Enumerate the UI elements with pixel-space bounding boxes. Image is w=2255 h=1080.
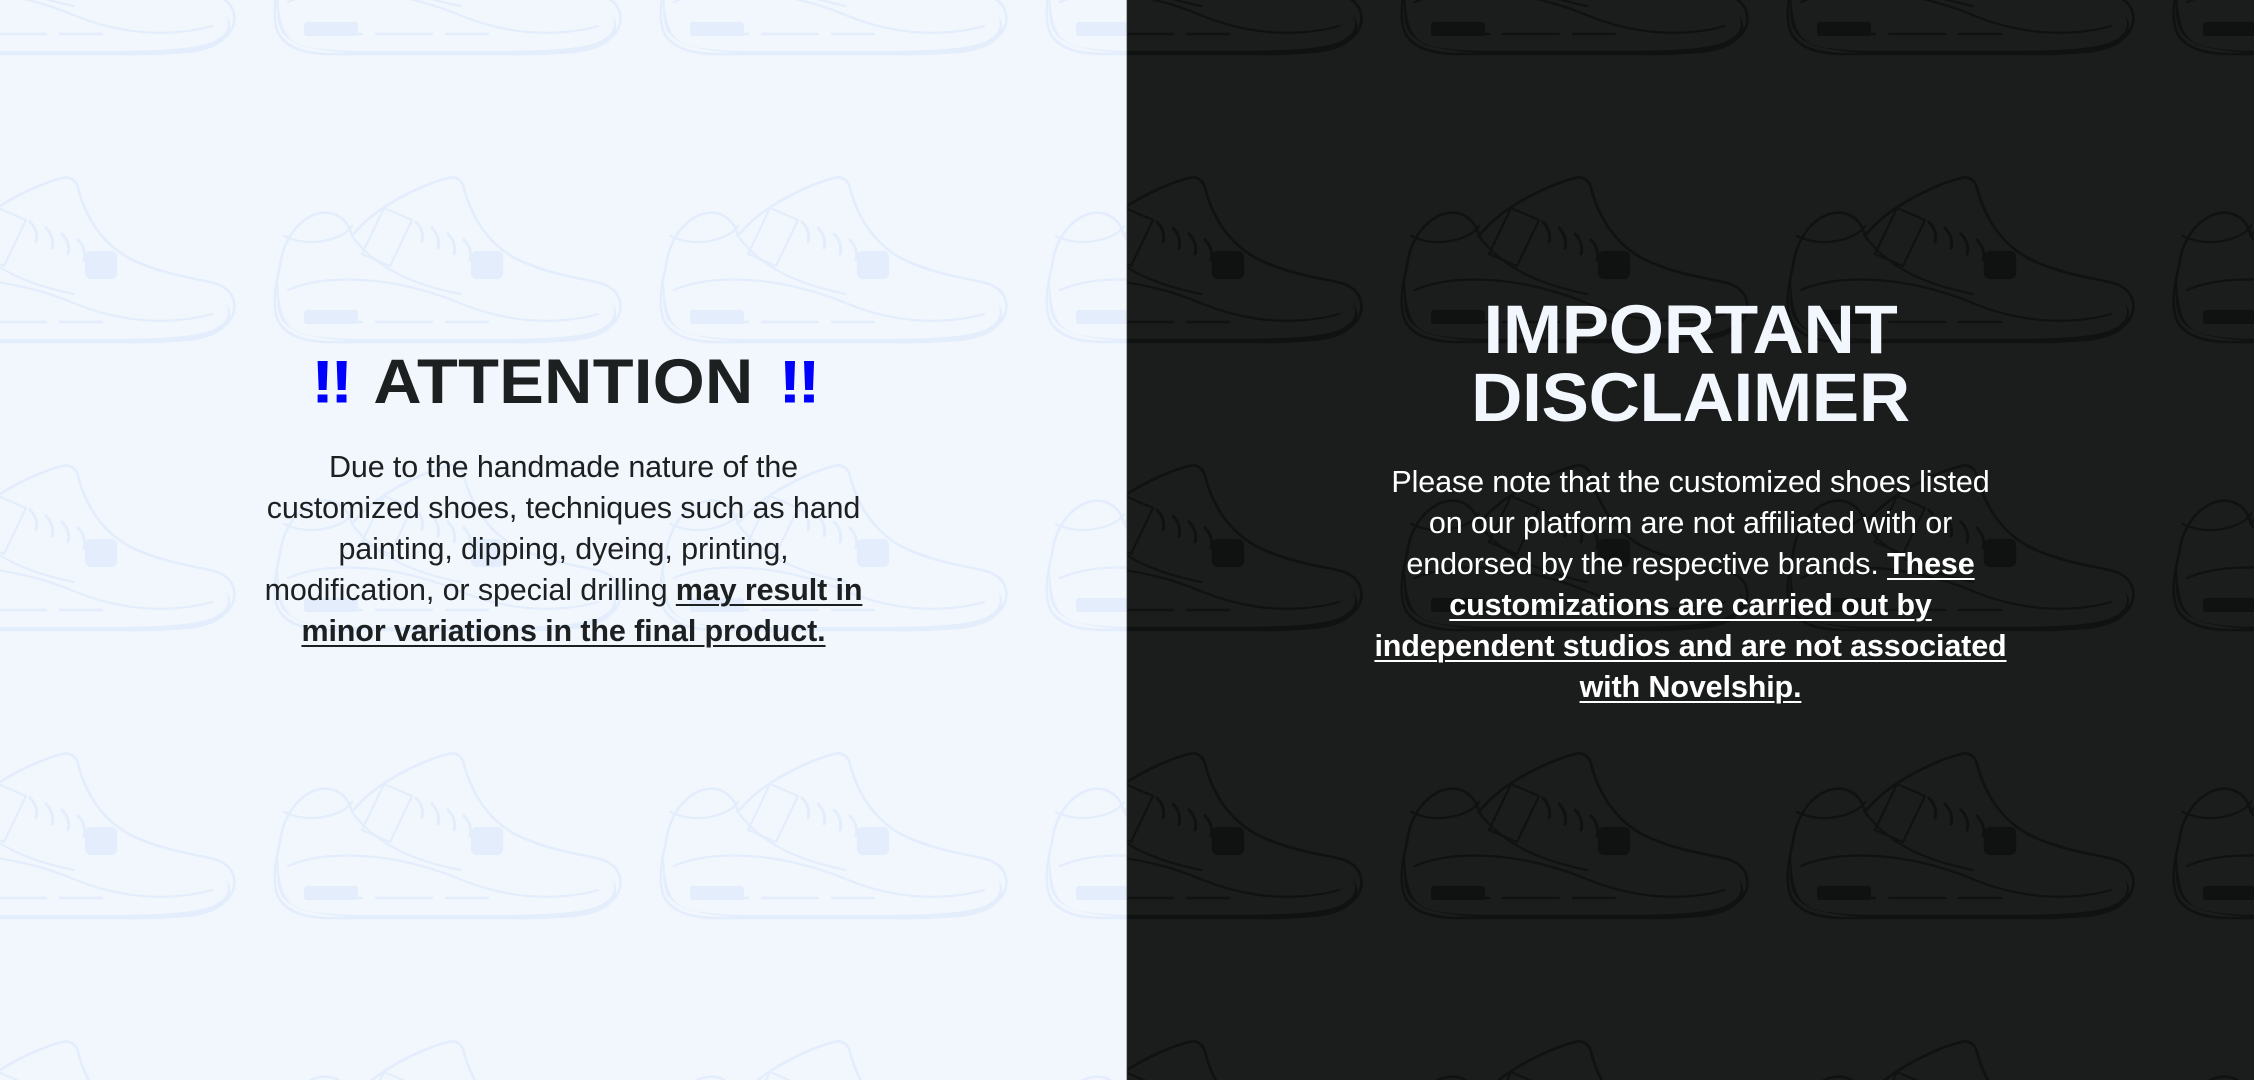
customization-notice-banner: ‼ ATTENTION ‼ Due to the handmade nature… [0, 0, 2255, 1080]
disclaimer-body: Please note that the customized shoes li… [1371, 462, 2011, 708]
double-exclamation-right-icon: ‼ [778, 352, 816, 412]
attention-body: Due to the handmade nature of the custom… [259, 447, 869, 652]
disclaimer-heading: IMPORTANT DISCLAIMER [1182, 296, 2199, 431]
disclaimer-heading-line-1: IMPORTANT [1182, 296, 2199, 364]
panel-divider [1126, 0, 1128, 1080]
attention-content: ‼ ATTENTION ‼ Due to the handmade nature… [0, 352, 1127, 653]
disclaimer-heading-line-2: DISCLAIMER [1182, 364, 2199, 432]
double-exclamation-left-icon: ‼ [311, 352, 349, 412]
attention-heading: ‼ ATTENTION ‼ [40, 352, 1086, 414]
attention-panel: ‼ ATTENTION ‼ Due to the handmade nature… [0, 0, 1127, 1080]
disclaimer-content: IMPORTANT DISCLAIMER Please note that th… [1127, 296, 2254, 707]
attention-heading-text: ATTENTION [373, 352, 753, 414]
disclaimer-panel: IMPORTANT DISCLAIMER Please note that th… [1127, 0, 2254, 1080]
